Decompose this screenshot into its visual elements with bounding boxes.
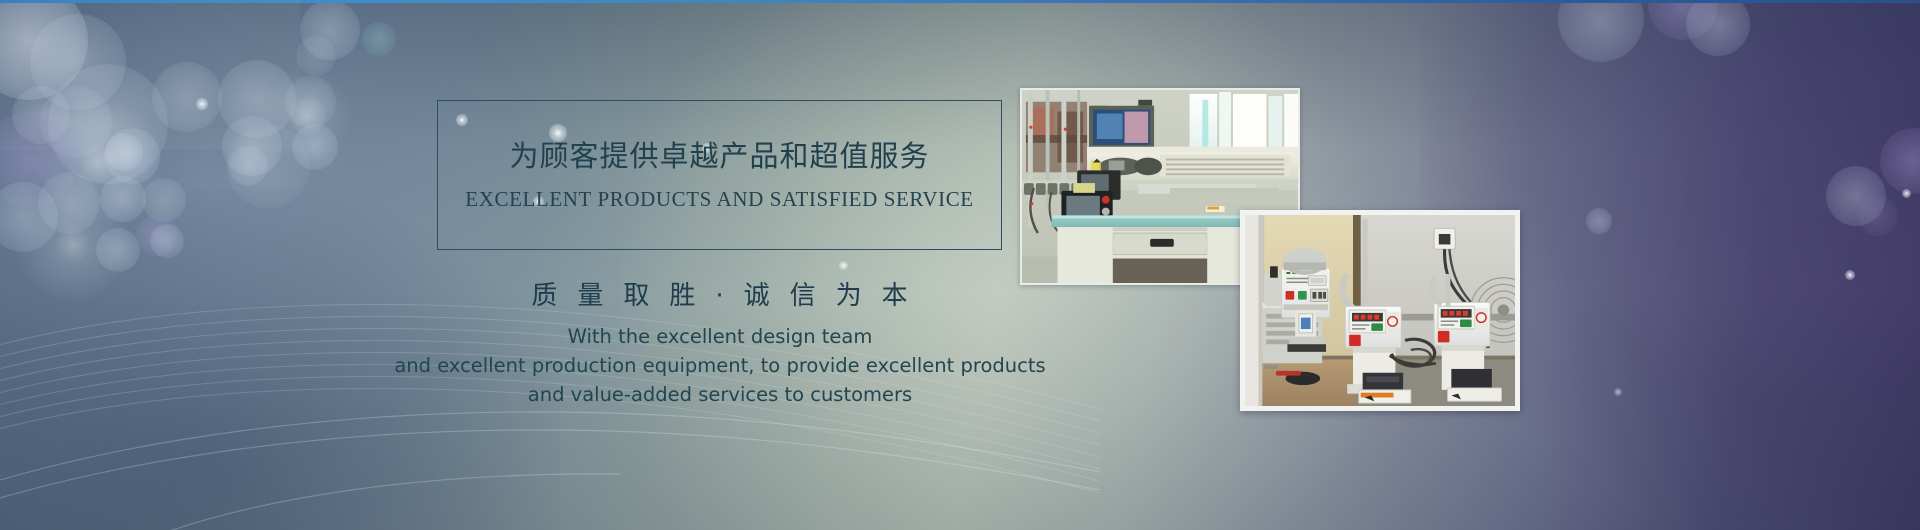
description-paragraph: With the excellent design team and excel… (340, 322, 1100, 409)
headline-box: 为顾客提供卓越产品和超值服务 EXCELLENT PRODUCTS AND SA… (437, 100, 1002, 250)
promo-banner: 为顾客提供卓越产品和超值服务 EXCELLENT PRODUCTS AND SA… (0, 0, 1920, 530)
paragraph-line: and value-added services to customers (340, 380, 1100, 409)
slogan-chinese: 质量取胜·诚信为本 (437, 275, 1002, 312)
photo-terminal-machines: Bench-top terminal crimping machines wit… (1240, 210, 1520, 411)
terminal-machines-illustration (1245, 215, 1515, 406)
headline-english: EXCELLENT PRODUCTS AND SATISFIED SERVICE (465, 187, 973, 212)
paragraph-line: and excellent production equipment, to p… (340, 351, 1100, 380)
banner-content: 为顾客提供卓越产品和超值服务 EXCELLENT PRODUCTS AND SA… (0, 0, 1920, 530)
photo-terminal-machines-image (1245, 215, 1515, 406)
paragraph-line: With the excellent design team (340, 322, 1100, 351)
top-accent-rule (0, 0, 1920, 3)
headline-chinese: 为顾客提供卓越产品和超值服务 (509, 138, 929, 174)
